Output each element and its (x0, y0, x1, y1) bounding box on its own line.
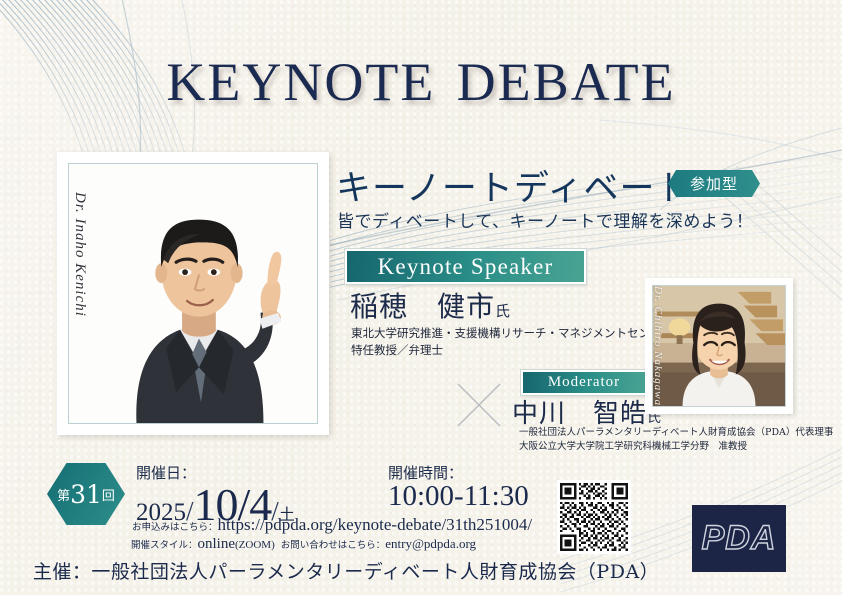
moderator-portrait-illustration (653, 286, 785, 406)
moderator-affiliation-line1: 一般社団法人パーラメンタリーディベート人財育成協会（PDA）代表理事 (519, 426, 833, 440)
time-value: 10:00-11:30 (388, 480, 529, 513)
moderator-vertical-name: Dr. Chihiro Nakagawa (652, 286, 664, 406)
moderator-banner: Moderator (521, 370, 647, 395)
speaker-affiliation-line1: 東北大学研究推進・支援機構リサーチ・マネジメントセンター (351, 325, 673, 342)
qr-code-image (560, 483, 628, 551)
speaker-affiliation-line2: 特任教授／弁理士 (351, 342, 673, 359)
japanese-title: キーノートディベート (336, 160, 691, 211)
speaker-portrait-illustration (69, 164, 317, 423)
edition-badge: 第31回 (47, 463, 125, 525)
edition-number: 31 (70, 480, 102, 509)
speaker-affiliation: 東北大学研究推進・支援機構リサーチ・マネジメントセンター 特任教授／弁理士 (351, 325, 673, 358)
apply-line: お申込みはこちら：https://pdpda.org/keynote-debat… (132, 515, 532, 535)
edition-prefix: 第 (57, 485, 70, 504)
style-value-note: (ZOOM) (235, 539, 275, 551)
speaker-photo (68, 163, 318, 424)
contact-email[interactable]: entry@pdpda.org (385, 536, 476, 551)
style-value: online (198, 536, 236, 552)
moderator-photo (652, 285, 786, 407)
style-label: 開催スタイル： (131, 540, 198, 551)
title-block: Keynote Debate (0, 36, 842, 113)
moderator-name-text: 中川 智皓 (512, 399, 647, 429)
contact-label: お問い合わせはこちら： (281, 540, 386, 551)
style-line: 開催スタイル：online(ZOOM)お問い合わせはこちら：entry@pdpd… (131, 535, 476, 553)
speaker-name: 稲穂 健市氏 (350, 285, 511, 325)
cross-separator-icon (456, 382, 502, 428)
apply-label: お申込みはこちら： (132, 522, 218, 533)
page-title: Keynote Debate (0, 36, 842, 113)
keynote-speaker-banner: Keynote Speaker (345, 249, 586, 284)
speaker-name-suffix: 氏 (495, 302, 511, 320)
moderator-affiliation: 一般社団法人パーラメンタリーディベート人財育成協会（PDA）代表理事 大阪公立大… (519, 426, 833, 455)
speaker-photo-frame: Dr. Inaho Kenichi (57, 152, 329, 435)
pda-logo-text: PDA (702, 519, 777, 558)
speaker-name-text: 稲穂 健市 (350, 290, 495, 323)
moderator-name: 中川 智皓氏 (512, 393, 662, 430)
moderator-affiliation-line2: 大阪公立大学大学院工学研究科機械工学分野 准教授 (519, 440, 833, 454)
poster-canvas: Keynote Debate (0, 0, 842, 595)
japanese-subtitle: 皆でディベートして、キーノートで理解を深めよう！ (337, 207, 753, 232)
edition-suffix: 回 (102, 485, 115, 504)
speaker-vertical-name: Dr. Inaho Kenichi (71, 192, 88, 317)
participation-badge: 参加型 (668, 170, 760, 197)
moderator-photo-frame: Dr. Chihiro Nakagawa (645, 278, 793, 414)
apply-url[interactable]: https://pdpda.org/keynote-debate/31th251… (218, 515, 533, 534)
qr-code[interactable] (557, 480, 631, 554)
pda-logo: PDA (692, 505, 786, 572)
